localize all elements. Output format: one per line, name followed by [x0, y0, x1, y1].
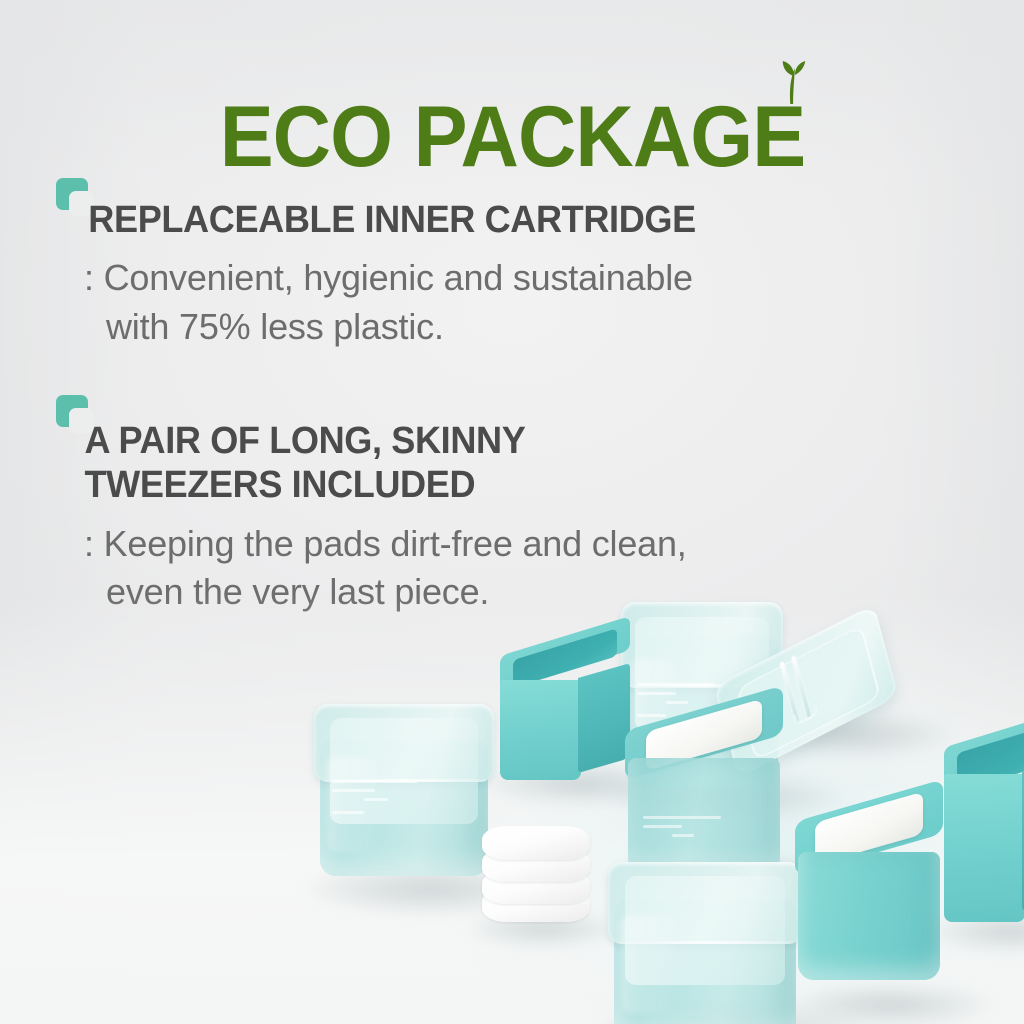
inner-cartridge-right-edge	[944, 742, 1024, 922]
open-container-with-pads	[628, 722, 780, 874]
inner-cartridge-with-pad-bottom	[798, 812, 940, 980]
feature-heading-line: REPLACEABLE INNER CARTRIDGE	[88, 198, 920, 242]
container-label	[643, 816, 728, 843]
feature-body-line: : Convenient, hygienic and sustainable	[84, 254, 966, 302]
feature-heading-line: A PAIR OF LONG, SKINNY	[85, 419, 921, 463]
page-title-text: ECO PACKAGE	[219, 89, 805, 185]
feature-item-tweezers-included: A PAIR OF LONG, SKINNY TWEEZERS INCLUDED…	[56, 395, 966, 616]
product-photo-scene	[0, 594, 1024, 1024]
page-title: ECO PACKAGE	[219, 94, 805, 180]
frosted-container-closed-left	[320, 704, 488, 876]
feature-body-line: : Keeping the pads dirt-free and clean,	[84, 520, 966, 568]
feature-body: : Convenient, hygienic and sustainable w…	[56, 254, 966, 350]
feature-body-line: with 75% less plastic.	[84, 303, 966, 351]
shadow	[790, 984, 990, 1024]
inner-cartridge-open-center	[500, 652, 630, 780]
frosted-container-closed-bottom-center	[614, 862, 796, 1024]
feature-heading: REPLACEABLE INNER CARTRIDGE	[56, 178, 921, 242]
feature-item-replaceable-cartridge: REPLACEABLE INNER CARTRIDGE : Convenient…	[56, 178, 966, 351]
container-label	[332, 780, 426, 820]
product-feature-graphic: ECO PACKAGE REPLACEABLE INNER CARTRIDGE …	[0, 0, 1024, 1024]
feature-heading-line: TWEEZERS INCLUDED	[85, 463, 921, 507]
feature-list: REPLACEABLE INNER CARTRIDGE : Convenient…	[56, 178, 966, 658]
feature-heading: A PAIR OF LONG, SKINNY TWEEZERS INCLUDED	[56, 395, 921, 508]
cotton-pad-stack	[482, 826, 590, 926]
